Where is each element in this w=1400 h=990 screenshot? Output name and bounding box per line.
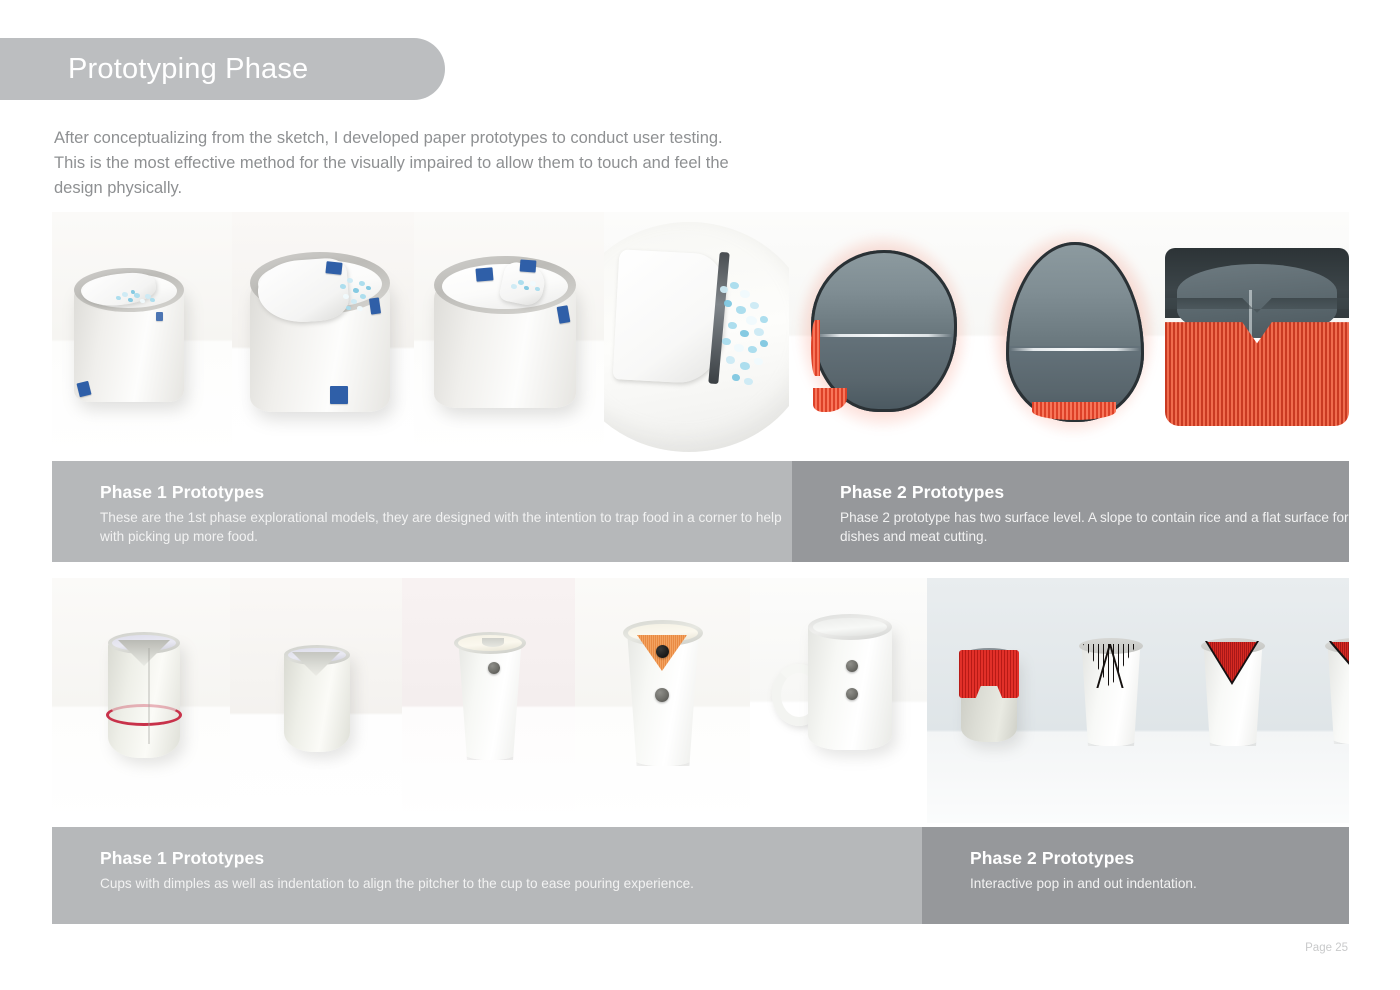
page-title: Prototyping Phase [0,53,308,86]
cup-photo-strip [52,578,1349,823]
photo-cup-plain-notch [230,578,402,823]
cup-caption-row: Phase 1 Prototypes Cups with dimples as … [52,827,1349,924]
bowl-caption-row: Phase 1 Prototypes These are the 1st pha… [52,461,1349,562]
caption-phase1-bowls: Phase 1 Prototypes These are the 1st pha… [52,461,792,562]
caption-heading: Phase 1 Prototypes [100,482,792,503]
intro-paragraph: After conceptualizing from the sketch, I… [54,126,734,201]
bowl-photo-strip [52,212,1349,457]
caption-heading: Phase 2 Prototypes [840,482,1349,503]
photo-phase2-bowl-side [1163,212,1349,457]
photo-bowl-corner-trap [414,212,604,457]
photo-phase2-cup-sketch [1049,578,1171,823]
photo-bowl-angled-with-rice [52,212,232,457]
photo-rice-scooped [604,212,789,457]
caption-phase1-cups: Phase 1 Prototypes Cups with dimples as … [52,827,922,924]
photo-phase2-bowl-round [789,212,976,457]
photo-mug-handle-dimples [750,578,927,823]
photo-phase2-bowl-teardrop [976,212,1163,457]
caption-heading: Phase 2 Prototypes [970,848,1349,869]
photo-phase2-cup-red-wrap [927,578,1049,823]
caption-body: Cups with dimples as well as indentation… [100,874,922,893]
slide-page: Prototyping Phase After conceptualizing … [0,0,1400,990]
caption-body: These are the 1st phase explorational mo… [100,508,792,546]
caption-body: Phase 2 prototype has two surface level.… [840,508,1349,546]
page-title-banner: Prototyping Phase [0,38,445,100]
photo-cup-orange-spout [575,578,750,823]
caption-body: Interactive pop in and out indentation. [970,874,1349,893]
caption-heading: Phase 1 Prototypes [100,848,922,869]
photo-cup-notch-band [52,578,230,823]
caption-phase2-cups: Phase 2 Prototypes Interactive pop in an… [922,827,1349,924]
photo-bowl-top-divider [232,212,414,457]
page-number: Page 25 [1305,942,1348,954]
photo-cup-dimple [402,578,575,823]
photo-phase2-cup-red-v-deep [1171,578,1293,823]
caption-phase2-bowls: Phase 2 Prototypes Phase 2 prototype has… [792,461,1349,562]
photo-phase2-cup-red-v-shallow [1293,578,1349,823]
